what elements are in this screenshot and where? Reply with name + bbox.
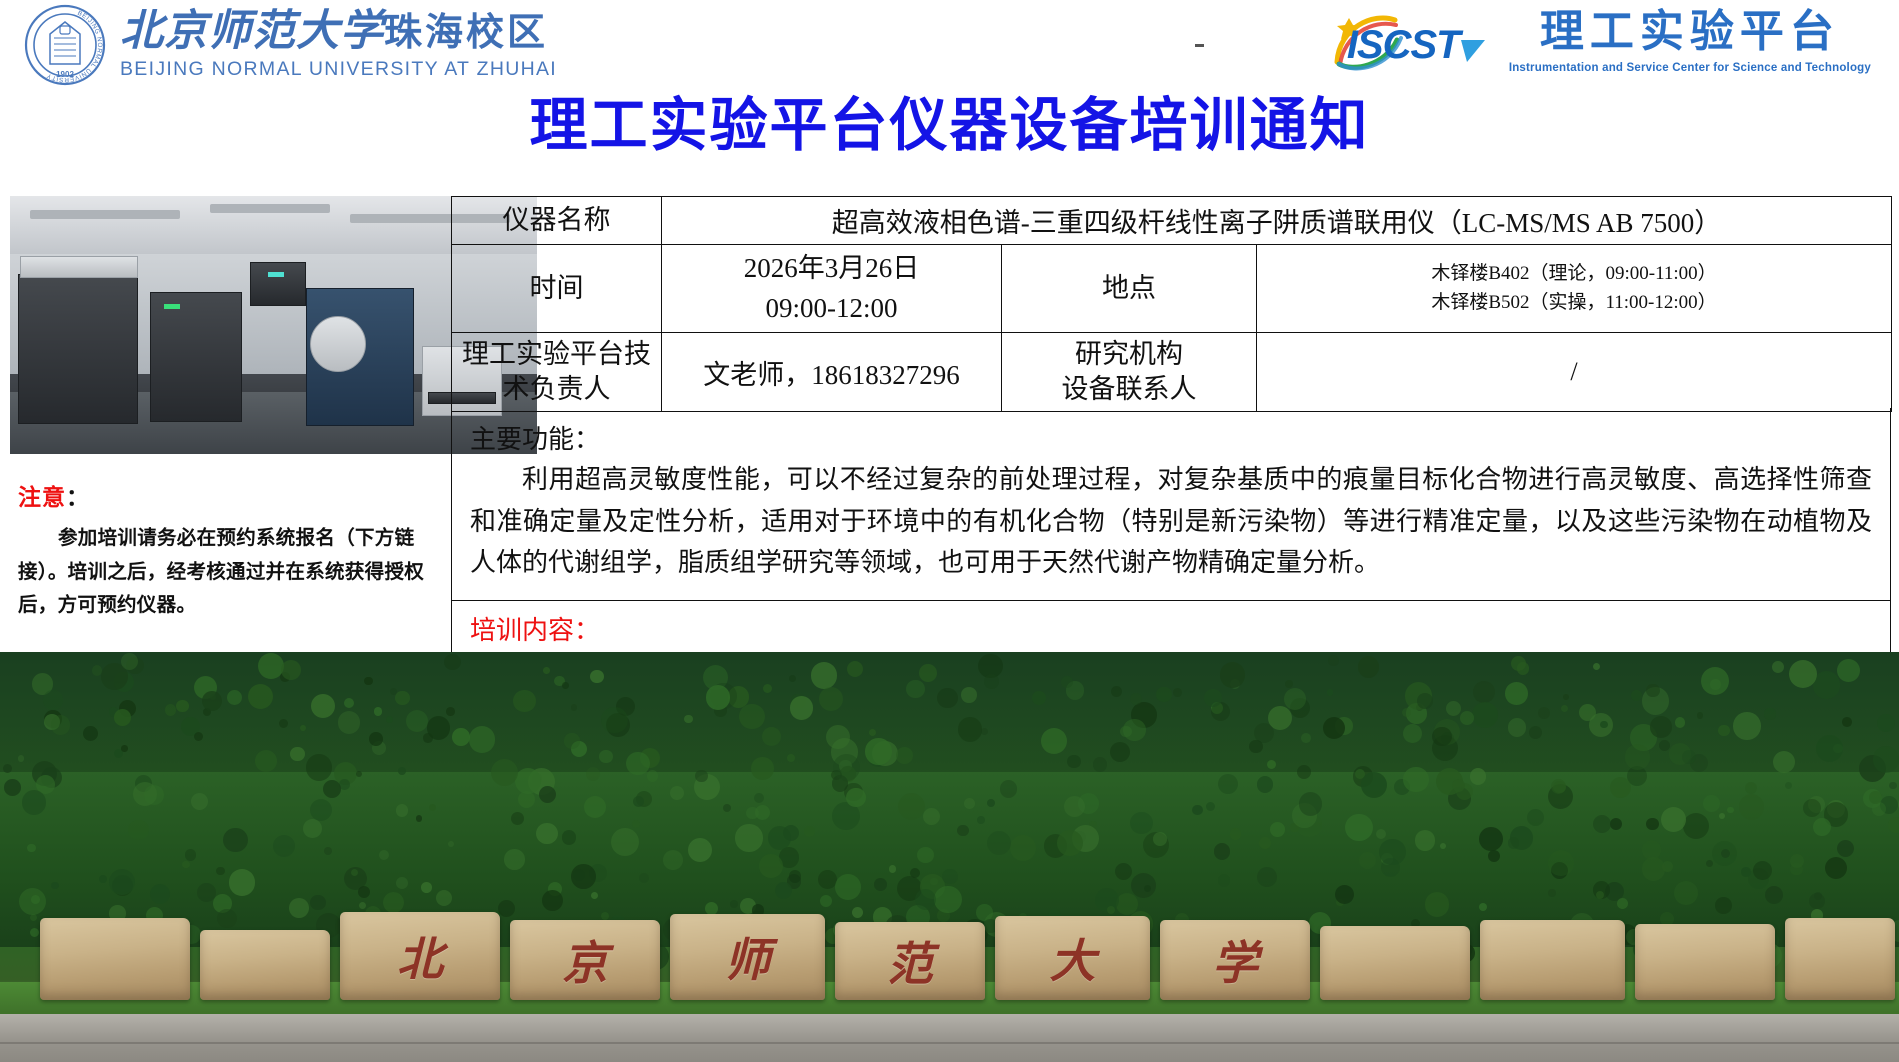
foliage-texture [1718, 725, 1730, 737]
stone-block [1635, 924, 1775, 1000]
foliage-texture [1529, 726, 1542, 739]
foliage-texture [27, 844, 35, 852]
foliage-texture [43, 690, 62, 709]
foliage-texture [504, 849, 524, 869]
foliage-texture [289, 898, 309, 918]
foliage-texture [833, 754, 860, 781]
foliage-texture [1010, 835, 1036, 861]
foliage-texture [18, 755, 25, 762]
foliage-texture [31, 895, 40, 904]
foliage-texture [1032, 691, 1046, 705]
venue-value: 木铎楼B402（理论，09:00-11:00） 木铎楼B502（实操，11:00… [1257, 245, 1892, 333]
foliage-texture [957, 825, 968, 836]
notice-heading-colon: ： [66, 484, 90, 510]
foliage-texture [942, 869, 958, 885]
stone-block [1480, 920, 1625, 1000]
foliage-texture [923, 808, 940, 825]
foliage-texture [217, 909, 237, 929]
foliage-texture [789, 870, 801, 882]
foliage-texture [1733, 712, 1760, 739]
foliage-texture [586, 767, 600, 781]
functions-heading: 主要功能： [470, 420, 1872, 459]
page-title: 理工实验平台仪器设备培训通知 [0, 94, 1899, 158]
foliage-texture [961, 687, 977, 703]
foliage-texture [223, 828, 247, 852]
foliage-texture [1257, 776, 1273, 792]
foliage-texture [398, 767, 406, 775]
foliage-texture [1359, 852, 1376, 869]
foliage-texture [1538, 707, 1550, 719]
foliage-texture [1877, 714, 1895, 732]
table-row-time-venue: 时间 2026年3月26日 09:00-12:00 地点 木铎楼B402（理论，… [452, 245, 1892, 333]
foliage-texture [1440, 843, 1446, 849]
foliage-texture [1479, 827, 1503, 851]
foliage-texture [416, 815, 422, 821]
foliage-texture [191, 793, 208, 810]
training-notice-poster: BEIJING NORMAL UNIVERSITY 1902 北京师范大学珠海校… [0, 0, 1899, 1062]
foliage-texture [937, 688, 957, 708]
foliage-texture [1299, 792, 1322, 815]
foliage-texture [889, 865, 897, 873]
foliage-texture [22, 790, 47, 815]
foliage-texture [847, 661, 863, 677]
foliage-texture [1837, 659, 1860, 682]
foliage-texture [1675, 717, 1685, 727]
functions-box: 主要功能： 利用超高灵敏度性能，可以不经过复杂的前处理过程，对复杂基质中的痕量目… [451, 408, 1891, 601]
foliage-texture [364, 677, 372, 685]
foliage-texture [835, 874, 861, 900]
iscst-logo: ISCST 理工实验平台 Instrumentation and Service… [1333, 10, 1871, 74]
foliage-texture [1551, 779, 1566, 794]
org-contact-label-line-2: 设备联系人 [1010, 372, 1248, 407]
foliage-texture [1753, 861, 1772, 880]
foliage-texture [121, 745, 127, 751]
foliage-texture [571, 864, 596, 889]
notice-heading-text: 注意 [18, 484, 66, 510]
foliage-texture [1403, 767, 1428, 792]
foliage-texture [1715, 897, 1732, 914]
poster-header: BEIJING NORMAL UNIVERSITY 1902 北京师范大学珠海校… [0, 0, 1899, 96]
foliage-texture [934, 886, 962, 914]
stone-block: 京 [510, 920, 660, 1000]
foliage-texture [820, 895, 832, 907]
foliage-texture [818, 870, 837, 889]
foliage-texture [811, 662, 838, 689]
foliage-texture [229, 869, 255, 895]
foliage-texture [511, 812, 524, 825]
foliage-texture [216, 867, 224, 875]
foliage-texture [165, 704, 176, 715]
foliage-texture [1488, 850, 1500, 862]
foliage-texture [1596, 891, 1604, 899]
foliage-texture [513, 690, 536, 713]
stone-glyph: 师 [670, 924, 825, 990]
foliage-texture [1505, 682, 1528, 705]
foliage-texture [518, 791, 535, 808]
foliage-texture [1432, 727, 1451, 746]
foliage-texture [759, 854, 783, 878]
foliage-texture [898, 793, 925, 820]
bnu-seal-icon: BEIJING NORMAL UNIVERSITY 1902 [24, 4, 106, 86]
foliage-texture [1323, 717, 1345, 739]
stone-glyph: 北 [340, 923, 500, 989]
foliage-texture [395, 691, 410, 706]
foliage-texture [1417, 693, 1433, 709]
iscst-name-cn: 理工实验平台 [1540, 10, 1840, 54]
venue-line-1: 木铎楼B402（理论，09:00-11:00） [1265, 260, 1883, 289]
foliage-texture [564, 733, 579, 748]
org-contact-label-line-1: 研究机构 [1010, 337, 1248, 372]
foliage-texture [1661, 807, 1686, 832]
foliage-texture [281, 660, 301, 680]
bnu-name-campus: 珠海校区 [384, 12, 548, 54]
foliage-texture [896, 747, 913, 764]
foliage-texture [539, 786, 556, 803]
foliage-texture [4, 779, 21, 796]
time-date: 2026年3月26日 [670, 249, 993, 288]
tech-lead-label: 理工实验平台技 术负责人 [452, 333, 662, 412]
iscst-swoosh-icon: ISCST [1333, 10, 1493, 72]
foliage-texture [670, 786, 684, 800]
foliage-texture [1646, 684, 1659, 697]
foliage-texture [1093, 757, 1107, 771]
foliage-texture [1479, 903, 1487, 911]
foliage-texture [1218, 874, 1230, 886]
foliage-texture [369, 732, 383, 746]
foliage-texture [128, 820, 148, 840]
foliage-texture [1837, 840, 1854, 857]
foliage-texture [1115, 863, 1132, 880]
foliage-texture [1803, 799, 1821, 817]
stone-glyph: 京 [510, 927, 660, 993]
foliage-texture [446, 707, 455, 716]
foliage-texture [1610, 777, 1631, 798]
foliage-texture [684, 715, 693, 724]
foliage-texture [865, 738, 891, 764]
foliage-texture [977, 816, 985, 824]
foliage-texture [150, 884, 170, 904]
foliage-texture [1402, 708, 1411, 717]
foliage-texture [562, 830, 577, 845]
foliage-texture [571, 704, 577, 710]
foliage-texture [273, 835, 295, 857]
foliage-texture [1593, 663, 1600, 670]
foliage-texture [1173, 688, 1182, 697]
foliage-texture [1842, 717, 1852, 727]
foliage-texture [543, 667, 550, 674]
foliage-texture [751, 757, 773, 779]
foliage-texture [1067, 755, 1080, 768]
foliage-texture [1741, 867, 1751, 877]
foliage-texture [1869, 791, 1882, 804]
foliage-texture [1650, 716, 1672, 738]
foliage-texture [584, 796, 606, 818]
notice-block: 注意： 参加培训请务必在预约系统报名（下方链接）。培训之后，经考核通过并在系统获… [18, 478, 438, 623]
functions-text: 利用超高灵敏度性能，可以不经过复杂的前处理过程，对复杂基质中的痕量目标化合物进行… [470, 459, 1872, 584]
foliage-texture [429, 804, 436, 811]
foliage-texture [542, 890, 563, 911]
campus-photo: 北京师范大学 [0, 652, 1899, 1062]
foliage-texture [1218, 774, 1238, 794]
foliage-texture [311, 694, 335, 718]
foliage-texture [562, 682, 568, 688]
foliage-texture [358, 886, 370, 898]
foliage-texture [1376, 829, 1386, 839]
foliage-texture [1703, 795, 1720, 812]
foliage-texture [255, 750, 277, 772]
training-heading: 培训内容： [470, 611, 1872, 651]
foliage-texture [1130, 812, 1152, 834]
foliage-texture [1764, 708, 1775, 719]
foliage-texture [310, 895, 326, 911]
foliage-texture [444, 654, 461, 671]
foliage-texture [338, 711, 360, 733]
foliage-texture [1527, 809, 1544, 826]
foliage-texture [114, 709, 131, 726]
notice-body: 参加培训请务必在预约系统报名（下方链接）。培训之后，经考核通过并在系统获得授权后… [18, 522, 438, 623]
foliage-texture [396, 804, 409, 817]
foliage-texture [591, 892, 598, 899]
foliage-texture [1473, 681, 1495, 703]
foliage-texture [984, 674, 999, 689]
foliage-texture [83, 726, 98, 741]
foliage-texture [1425, 892, 1450, 917]
foliage-texture [1739, 794, 1765, 820]
foliage-texture [1508, 718, 1526, 736]
foliage-texture [383, 892, 404, 913]
foliage-texture [874, 878, 887, 891]
instrument-value: 超高效液相色谱-三重四级杆线性离子阱质谱联用仪（LC-MS/MS AB 7500… [662, 197, 1892, 245]
foliage-texture [1470, 768, 1487, 785]
iscst-wordmark: ISCST [1347, 23, 1460, 68]
foliage-texture [1625, 744, 1651, 770]
foliage-texture [852, 907, 863, 918]
foliage-texture [51, 715, 71, 735]
stone-block: 范 [835, 922, 985, 1000]
foliage-texture [688, 838, 712, 862]
foliage-texture [1745, 782, 1757, 794]
foliage-texture [1790, 854, 1804, 868]
foliage-texture [1381, 858, 1400, 877]
foliage-texture [915, 889, 936, 910]
time-value: 2026年3月26日 09:00-12:00 [662, 245, 1002, 333]
foliage-texture [3, 764, 12, 773]
instrument-label: 仪器名称 [452, 197, 662, 245]
foliage-texture [1144, 885, 1151, 892]
foliage-texture [706, 685, 731, 710]
foliage-texture [1120, 726, 1131, 737]
foliage-texture [344, 698, 354, 708]
foliage-texture [590, 670, 604, 684]
stone-glyph: 大 [995, 925, 1150, 991]
foliage-texture [730, 900, 738, 908]
foliage-texture [1192, 805, 1202, 815]
foliage-texture [790, 696, 814, 720]
stone-block [200, 930, 330, 1000]
venue-line-2: 木铎楼B502（实操，11:00-12:00） [1265, 289, 1883, 318]
foliage-texture [919, 664, 937, 682]
stone-block [1320, 926, 1470, 1000]
foliage-texture [176, 700, 188, 712]
foliage-texture [536, 823, 557, 844]
foliage-texture [1284, 688, 1306, 710]
foliage-texture [1230, 828, 1242, 840]
foliage-texture [1642, 857, 1665, 880]
foliage-texture [735, 824, 762, 851]
foliage-texture [324, 847, 332, 855]
svg-text:1902: 1902 [56, 70, 74, 79]
foliage-texture [1270, 822, 1285, 837]
foliage-texture [906, 680, 925, 699]
foliage-texture [306, 754, 332, 780]
foliage-texture [427, 716, 451, 740]
bnu-name-main: 北京师范大学 [120, 8, 384, 55]
foliage-texture [194, 732, 203, 741]
foliage-texture [1772, 661, 1784, 673]
bnu-name-en: BEIJING NORMAL UNIVERSITY AT ZHUHAI [120, 58, 557, 81]
foliage-texture [374, 707, 383, 716]
foliage-texture [768, 826, 792, 850]
stone-glyph: 学 [1160, 927, 1310, 993]
foliage-texture [1642, 840, 1662, 860]
stone-glyph: 范 [835, 928, 985, 994]
stone-block: 学 [1160, 920, 1310, 1000]
time-range: 09:00-12:00 [670, 289, 993, 328]
foliage-texture [1301, 733, 1311, 743]
foliage-texture [695, 770, 707, 782]
table-row-contacts: 理工实验平台技 术负责人 文老师，18618327296 研究机构 设备联系人 … [452, 333, 1892, 412]
foliage-texture [1873, 746, 1899, 772]
org-contact-value: / [1257, 333, 1892, 412]
table-row-instrument: 仪器名称 超高效液相色谱-三重四级杆线性离子阱质谱联用仪（LC-MS/MS AB… [452, 197, 1892, 245]
foliage-texture [599, 750, 612, 763]
foliage-texture [739, 704, 764, 729]
notice-heading: 注意： [18, 478, 438, 512]
foliage-texture [611, 828, 639, 856]
foliage-texture [1646, 818, 1658, 830]
foliage-texture [1335, 885, 1354, 904]
foliage-texture [290, 747, 304, 761]
stone-block [1785, 918, 1895, 1000]
venue-label: 地点 [1002, 245, 1257, 333]
org-contact-label: 研究机构 设备联系人 [1002, 333, 1257, 412]
foliage-texture [144, 785, 164, 805]
foliage-texture [1156, 687, 1171, 702]
foliage-texture [1345, 814, 1373, 842]
foliage-texture [601, 707, 628, 734]
foliage-texture [1889, 782, 1896, 789]
foliage-texture [869, 729, 876, 736]
iscst-name-en: Instrumentation and Service Center for S… [1509, 62, 1871, 74]
foliage-texture [197, 883, 215, 901]
foliage-texture [1259, 837, 1271, 849]
bnu-logo: BEIJING NORMAL UNIVERSITY 1902 北京师范大学珠海校… [24, 4, 557, 86]
foliage-texture [1000, 780, 1018, 798]
info-table: 仪器名称 超高效液相色谱-三重四级杆线性离子阱质谱联用仪（LC-MS/MS AB… [451, 196, 1892, 412]
foliage-texture [1130, 693, 1142, 705]
foliage-texture [1153, 832, 1167, 846]
foliage-texture [1721, 849, 1730, 858]
foliage-texture [452, 728, 470, 746]
foliage-texture [1257, 867, 1277, 887]
foliage-texture [763, 684, 772, 693]
stray-mark [1195, 44, 1204, 47]
bnu-name-cn: 北京师范大学珠海校区 [120, 9, 548, 54]
foliage-texture [1816, 735, 1843, 762]
foliage-texture [421, 882, 432, 893]
stone-block: 北 [340, 912, 500, 1000]
stone-block [40, 918, 190, 1000]
foliage-texture [964, 798, 975, 809]
foliage-texture [469, 726, 495, 752]
foliage-texture [1548, 889, 1555, 896]
foliage-texture [1057, 830, 1083, 856]
foliage-texture [202, 691, 222, 711]
tech-lead-label-line-2: 术负责人 [460, 372, 653, 407]
time-label: 时间 [452, 245, 662, 333]
stone-block: 师 [670, 914, 825, 1000]
foliage-texture [1327, 689, 1333, 695]
tech-lead-label-line-1: 理工实验平台技 [460, 337, 653, 372]
foliage-texture [846, 788, 865, 807]
foliage-texture [754, 793, 764, 803]
stone-block: 大 [995, 916, 1150, 1000]
tech-lead-value: 文老师，18618327296 [662, 333, 1002, 412]
foliage-texture [1415, 830, 1436, 851]
